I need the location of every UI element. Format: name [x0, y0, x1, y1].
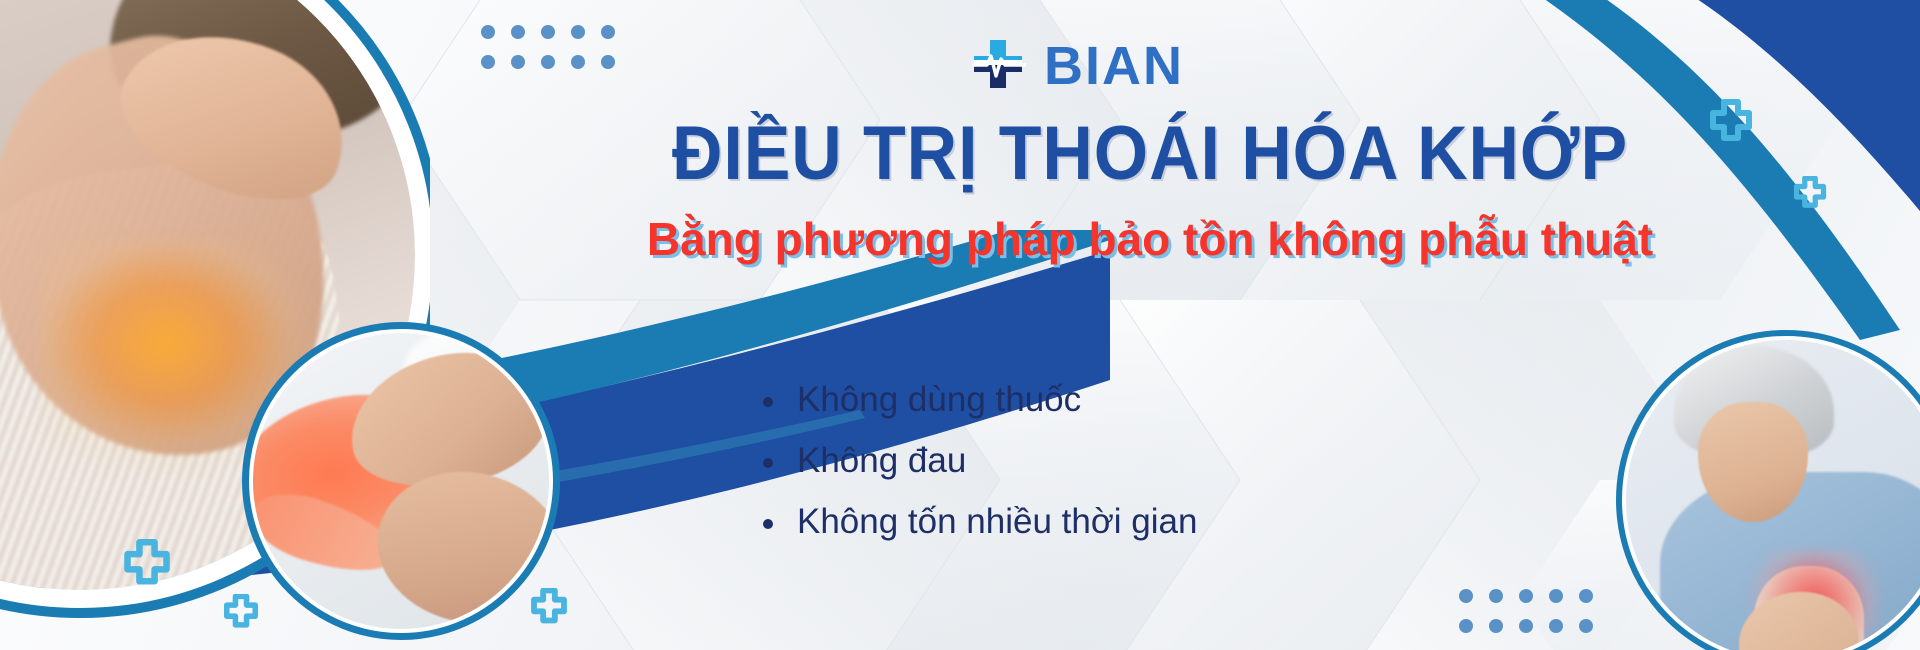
list-item: Không đau [755, 441, 1197, 480]
cross-outline-icon-4 [222, 594, 260, 632]
cross-outline-icon-3 [121, 539, 173, 591]
circle-hand-photo-content [253, 333, 549, 629]
brand-logo[interactable]: BIAN [970, 38, 1184, 94]
medical-cross-heartbeat-icon [970, 38, 1026, 94]
circle-photo-hand-exam [242, 322, 560, 640]
list-item: Không tốn nhiều thời gian [755, 502, 1197, 541]
list-item: Không dùng thuốc [755, 380, 1197, 419]
page-subtitle: Bằng phương pháp bảo tồn không phẫu thuậ… [560, 213, 1740, 266]
promo-banner: BIAN ĐIỀU TRỊ THOÁI HÓA KHỚP Bằng phương… [0, 0, 1920, 650]
cross-outline-icon-2 [1792, 176, 1828, 212]
benefit-list: Không dùng thuốc Không đau Không tốn nhi… [755, 380, 1197, 564]
brand-name: BIAN [1044, 39, 1184, 93]
banner-content: BIAN ĐIỀU TRỊ THOÁI HÓA KHỚP Bằng phương… [560, 0, 1740, 650]
page-title: ĐIỀU TRỊ THOÁI HÓA KHỚP [607, 116, 1693, 192]
